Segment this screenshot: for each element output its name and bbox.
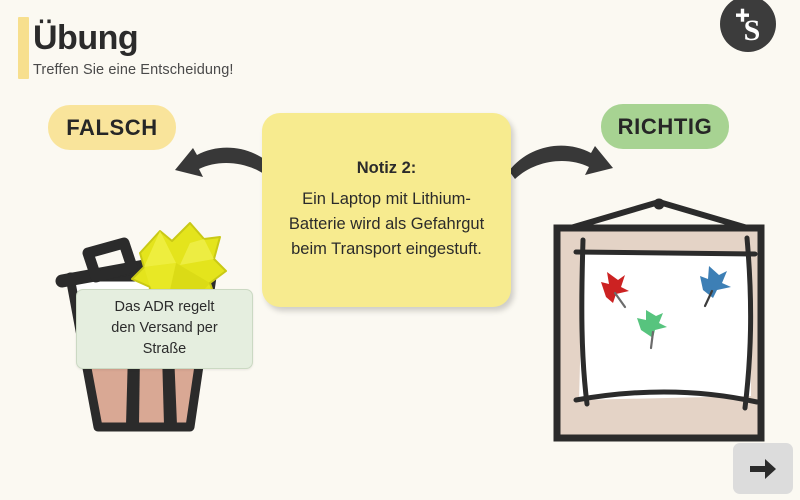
arrow-to-board-icon — [505, 131, 625, 193]
tooltip-line-3: Straße — [85, 339, 244, 360]
title-accent-bar — [18, 17, 29, 79]
choice-wrong-label: FALSCH — [66, 115, 158, 141]
next-button[interactable] — [733, 443, 793, 494]
pin-board-drop-target[interactable] — [543, 196, 775, 444]
page-title: Übung — [33, 16, 138, 60]
choice-correct-label: RICHTIG — [618, 114, 713, 140]
note-card[interactable]: Notiz 2: Ein Laptop mit Lithium- Batteri… — [262, 113, 511, 307]
note-line-1: Ein Laptop mit Lithium- — [289, 187, 484, 212]
trash-tooltip: Das ADR regelt den Versand per Straße — [76, 289, 253, 369]
page-subtitle: Treffen Sie eine Entscheidung! — [33, 62, 234, 78]
arrow-right-icon — [748, 456, 778, 482]
note-line-3: beim Transport eingestuft. — [289, 237, 484, 262]
tooltip-line-2: den Versand per — [85, 318, 244, 339]
note-line-2: Batterie wird als Gefahrgut — [289, 212, 484, 237]
choice-wrong-pill[interactable]: FALSCH — [48, 105, 176, 150]
tooltip-line-1: Das ADR regelt — [85, 297, 244, 318]
bottom-strip — [0, 496, 800, 500]
plus-s-logo: S — [712, 0, 784, 60]
svg-text:S: S — [744, 14, 761, 47]
slide-canvas: Übung Treffen Sie eine Entscheidung! S F… — [0, 0, 800, 500]
note-title: Notiz 2: — [357, 159, 417, 178]
